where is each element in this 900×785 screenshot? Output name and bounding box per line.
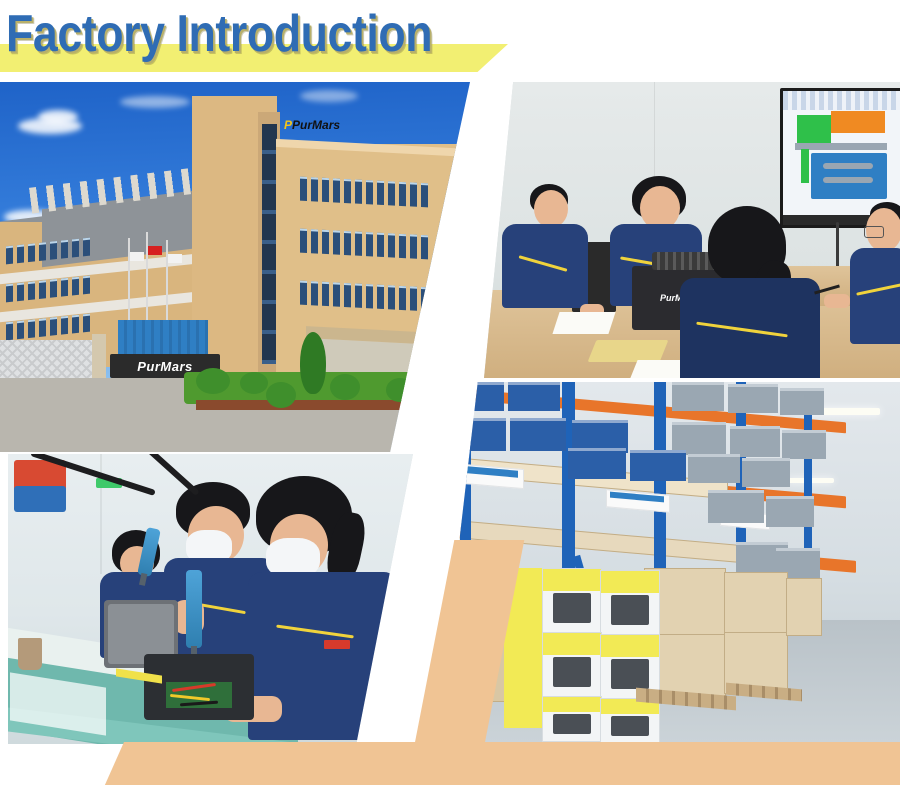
storage-bin: [728, 384, 778, 413]
product-unit: [611, 595, 648, 624]
photo-meeting-room[interactable]: Engineering team meeting reviewing 3D CA…: [484, 82, 900, 378]
bush: [408, 366, 442, 396]
electric-screwdriver: [186, 570, 202, 648]
bush: [386, 378, 414, 402]
hand: [824, 294, 850, 308]
factory-building-scene: PPurMars: [0, 82, 470, 452]
peach-bottom-accent-band: [100, 742, 900, 785]
factory-introduction-page: Factory Introduction PurMars factory bui…: [0, 0, 900, 785]
product-carton-yellow: [504, 700, 542, 728]
assembly-line-scene: [8, 454, 413, 744]
product-unit: [553, 657, 590, 686]
product-carton-yellow: [504, 634, 542, 700]
package-band: [543, 697, 601, 712]
storage-bin: [510, 418, 566, 451]
meeting-room-scene: PurMars: [484, 82, 900, 378]
package-band: [543, 569, 601, 591]
cad-green-part: [797, 115, 831, 143]
page-title: Factory Introduction: [6, 6, 432, 62]
product-unit: [553, 593, 590, 622]
flag-white: [130, 252, 144, 261]
packaged-product: [600, 698, 660, 742]
package-band: [543, 633, 601, 655]
product-unit: [553, 714, 590, 734]
cad-detail: [823, 163, 873, 169]
photo-warehouse-caption: Warehouse pallet racking stocked with ca…: [436, 382, 437, 383]
gate-fence: [0, 340, 94, 382]
uniform-jacket: [680, 278, 820, 378]
storage-bin: [782, 430, 826, 459]
package-band: [601, 635, 659, 657]
cad-detail: [823, 177, 873, 183]
head: [534, 190, 568, 228]
storage-bin: [630, 450, 686, 481]
shrub-tree: [300, 332, 326, 394]
photo-meeting-room-caption: Engineering team meeting reviewing 3D CA…: [484, 82, 485, 83]
cloud-icon: [38, 110, 78, 124]
storage-bin: [450, 418, 506, 451]
photo-assembly-line[interactable]: Workers in blue uniforms assembling unit…: [8, 454, 413, 744]
building-roof-logo: PPurMars: [284, 118, 340, 132]
storage-bin: [742, 458, 790, 487]
storage-bin: [452, 382, 504, 411]
carton: [724, 572, 788, 634]
bush: [196, 368, 230, 394]
packaged-product: [542, 696, 602, 742]
flag-white: [168, 254, 182, 263]
blue-tote: [14, 486, 66, 512]
storage-bin: [708, 490, 764, 523]
packaged-product: [600, 570, 660, 636]
storage-bin: [780, 388, 824, 415]
factory-sign-text: PurMars: [137, 359, 193, 374]
bush: [240, 372, 268, 394]
cad-green-part: [801, 149, 809, 183]
folder: [588, 340, 669, 362]
storage-bin: [688, 454, 740, 483]
storage-bin: [508, 382, 560, 411]
storage-bin: [730, 426, 780, 457]
cad-toolbar: [783, 91, 900, 110]
storage-bin: [672, 382, 724, 411]
flag-red: [148, 246, 162, 255]
coffee-cup: [18, 638, 42, 670]
bush: [266, 382, 296, 408]
cad-blue-part: [811, 153, 887, 199]
carton: [786, 578, 822, 636]
cloud-icon: [300, 90, 358, 102]
notebook: [552, 312, 615, 334]
photo-collage: PurMars factory building exterior with b…: [0, 82, 900, 785]
glasses-icon: [864, 226, 884, 238]
packaged-product: [542, 632, 602, 698]
product-unit: [611, 659, 648, 688]
cad-orange-part: [831, 111, 885, 133]
shrub-tree: [434, 334, 456, 390]
uniform-jacket: [502, 224, 588, 308]
flower-bed: [196, 400, 470, 410]
storage-bin: [568, 448, 626, 479]
packaged-product: [542, 568, 602, 634]
bush: [330, 374, 360, 400]
uniform-logo: [324, 640, 350, 649]
package-band: [601, 571, 659, 593]
product-unit: [611, 716, 648, 736]
storage-bin: [766, 496, 814, 527]
uniform-jacket: [850, 248, 900, 344]
cloud-icon: [120, 96, 190, 108]
stairwell-glazing: [262, 124, 277, 364]
photo-factory-building[interactable]: PurMars factory building exterior with b…: [0, 82, 470, 452]
